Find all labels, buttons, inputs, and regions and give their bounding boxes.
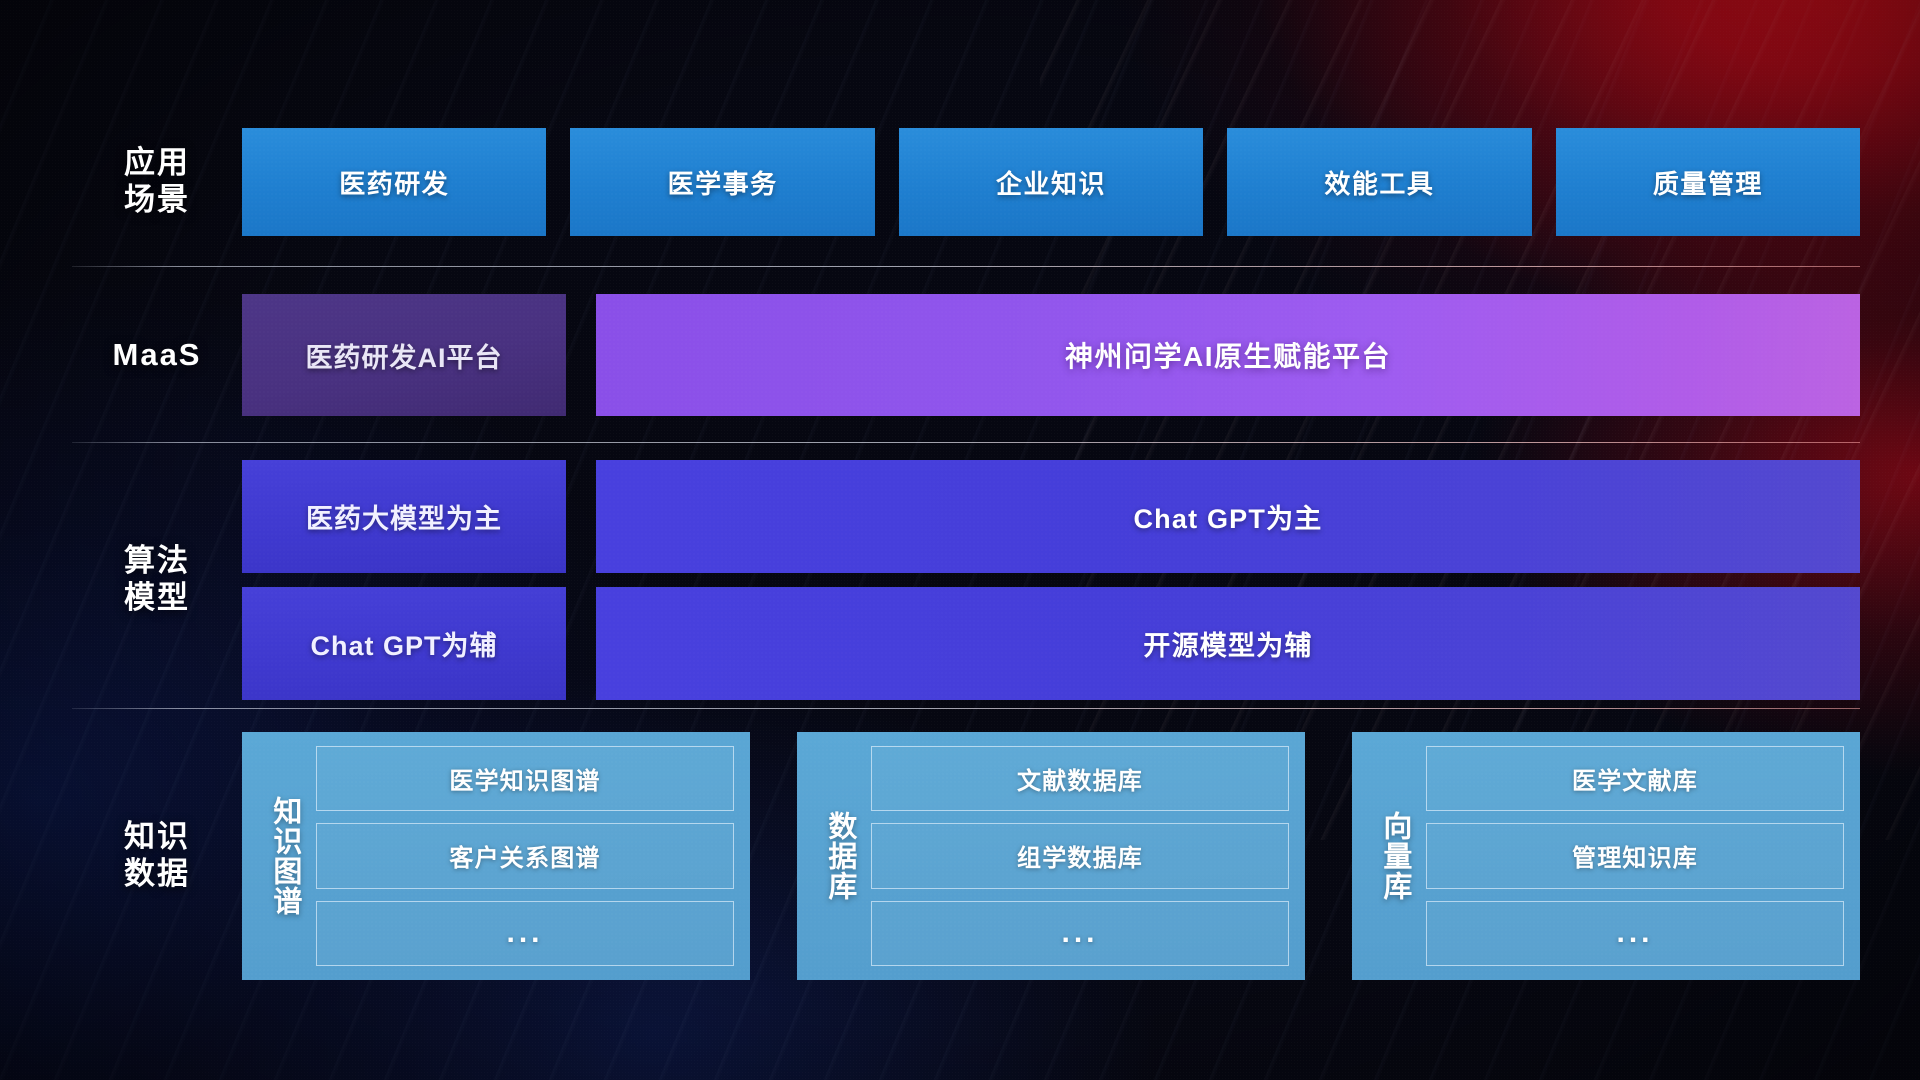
maas-box-shenzhou-wenxue-platform[interactable]: 神州问学AI原生赋能平台 bbox=[596, 294, 1860, 416]
algorithm-row-secondary: Chat GPT为辅 开源模型为辅 bbox=[242, 587, 1860, 700]
maas-boxes: 医药研发AI平台 神州问学AI原生赋能平台 bbox=[242, 294, 1860, 416]
app-box-enterprise-knowledge[interactable]: 企业知识 bbox=[899, 128, 1203, 236]
knowledge-panel-label-knowledge-graph: 知识图谱 bbox=[252, 746, 316, 966]
row-label-line-2: 数据 bbox=[72, 856, 242, 893]
row-knowledge-data: 知识 数据 知识图谱 医学知识图谱 客户关系图谱 ... 数据库 bbox=[72, 732, 1860, 980]
maas-box-pharma-ai-platform[interactable]: 医药研发AI平台 bbox=[242, 294, 566, 416]
knowledge-panel-items-vector-store: 医学文献库 管理知识库 ... bbox=[1426, 746, 1844, 966]
algorithm-row-primary: 医药大模型为主 Chat GPT为主 bbox=[242, 460, 1860, 573]
knowledge-item-literature-database[interactable]: 文献数据库 bbox=[871, 746, 1289, 811]
divider-after-applications bbox=[72, 266, 1860, 267]
knowledge-item-medical-knowledge-graph[interactable]: 医学知识图谱 bbox=[316, 746, 734, 811]
knowledge-panel-items-database: 文献数据库 组学数据库 ... bbox=[871, 746, 1289, 966]
knowledge-item-more-vector-store[interactable]: ... bbox=[1426, 901, 1844, 966]
knowledge-item-management-knowledge-store[interactable]: 管理知识库 bbox=[1426, 823, 1844, 888]
app-box-medical-affairs[interactable]: 医学事务 bbox=[570, 128, 874, 236]
app-box-quality-management[interactable]: 质量管理 bbox=[1556, 128, 1860, 236]
knowledge-item-medical-literature-store[interactable]: 医学文献库 bbox=[1426, 746, 1844, 811]
slide-canvas: 应用 场景 医药研发 医学事务 企业知识 效能工具 质量管理 MaaS 医药研发… bbox=[0, 0, 1920, 1080]
algorithm-model-boxes: 医药大模型为主 Chat GPT为主 Chat GPT为辅 开源模型为辅 bbox=[242, 460, 1860, 700]
knowledge-item-more-knowledge-graph[interactable]: ... bbox=[316, 901, 734, 966]
row-label-application-scenarios: 应用 场景 bbox=[72, 145, 242, 218]
algo-box-chatgpt-primary[interactable]: Chat GPT为主 bbox=[596, 460, 1860, 573]
knowledge-item-omics-database[interactable]: 组学数据库 bbox=[871, 823, 1289, 888]
app-box-efficiency-tools[interactable]: 效能工具 bbox=[1227, 128, 1531, 236]
diagram-content: 应用 场景 医药研发 医学事务 企业知识 效能工具 质量管理 MaaS 医药研发… bbox=[0, 0, 1920, 1080]
row-label-knowledge-data: 知识 数据 bbox=[72, 819, 242, 892]
row-label-line-1: 算法 bbox=[72, 543, 242, 580]
algo-box-pharma-llm-primary[interactable]: 医药大模型为主 bbox=[242, 460, 566, 573]
knowledge-panel-items-knowledge-graph: 医学知识图谱 客户关系图谱 ... bbox=[316, 746, 734, 966]
knowledge-panel-database[interactable]: 数据库 文献数据库 组学数据库 ... bbox=[797, 732, 1305, 980]
knowledge-panel-vector-store[interactable]: 向量库 医学文献库 管理知识库 ... bbox=[1352, 732, 1860, 980]
knowledge-item-more-database[interactable]: ... bbox=[871, 901, 1289, 966]
app-box-medicine-rd[interactable]: 医药研发 bbox=[242, 128, 546, 236]
row-application-scenarios: 应用 场景 医药研发 医学事务 企业知识 效能工具 质量管理 bbox=[72, 128, 1860, 236]
algo-box-opensource-secondary[interactable]: 开源模型为辅 bbox=[596, 587, 1860, 700]
row-label-line-2: 模型 bbox=[72, 580, 242, 617]
knowledge-item-customer-relation-graph[interactable]: 客户关系图谱 bbox=[316, 823, 734, 888]
knowledge-panels: 知识图谱 医学知识图谱 客户关系图谱 ... 数据库 文献数据库 组学数据库 .… bbox=[242, 732, 1860, 980]
divider-after-algorithms bbox=[72, 708, 1860, 709]
knowledge-panel-knowledge-graph[interactable]: 知识图谱 医学知识图谱 客户关系图谱 ... bbox=[242, 732, 750, 980]
row-label-algorithm-models: 算法 模型 bbox=[72, 543, 242, 616]
diagram-stage: 应用 场景 医药研发 医学事务 企业知识 效能工具 质量管理 MaaS 医药研发… bbox=[0, 0, 1920, 1080]
row-maas: MaaS 医药研发AI平台 神州问学AI原生赋能平台 bbox=[72, 294, 1860, 416]
knowledge-panel-label-database: 数据库 bbox=[807, 746, 871, 966]
application-scenarios-boxes: 医药研发 医学事务 企业知识 效能工具 质量管理 bbox=[242, 128, 1860, 236]
divider-after-maas bbox=[72, 442, 1860, 443]
row-label-line-2: 场景 bbox=[72, 182, 242, 219]
row-algorithm-models: 算法 模型 医药大模型为主 Chat GPT为主 Chat GPT为辅 开源模型… bbox=[72, 460, 1860, 700]
knowledge-panel-label-vector-store: 向量库 bbox=[1362, 746, 1426, 966]
algo-box-chatgpt-secondary[interactable]: Chat GPT为辅 bbox=[242, 587, 566, 700]
row-label-line-1: 应用 bbox=[72, 145, 242, 182]
row-label-maas: MaaS bbox=[72, 337, 242, 374]
row-label-line-1: 知识 bbox=[72, 819, 242, 856]
